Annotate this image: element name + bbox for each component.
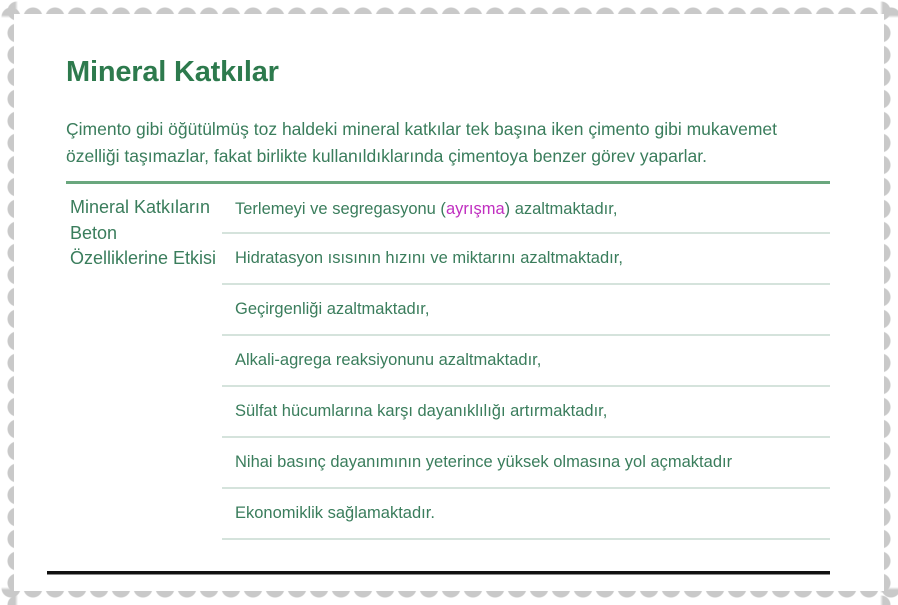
header-divider xyxy=(66,181,830,184)
intro-paragraph: Çimento gibi öğütülmüş toz haldeki miner… xyxy=(66,116,834,171)
table-row: Nihai basınç dayanımının yeterince yükse… xyxy=(222,438,830,489)
slide-content: Mineral Katkılar Çimento gibi öğütülmüş … xyxy=(0,0,898,605)
table-row: Sülfat hücumlarına karşı dayanıklılığı a… xyxy=(222,387,830,438)
table-row-text: Ekonomiklik sağlamaktadır. xyxy=(222,504,435,523)
table-row-text: Hidratasyon ısısının hızını ve miktarını… xyxy=(222,249,623,268)
table-row-header-label: Mineral Katkıların Beton Özelliklerine E… xyxy=(70,195,220,272)
slide-page: Mineral Katkılar Çimento gibi öğütülmüş … xyxy=(0,0,898,605)
table-row: Alkali-agrega reaksiyonunu azaltmaktadır… xyxy=(222,336,830,387)
table-row: Ekonomiklik sağlamaktadır. xyxy=(222,489,830,540)
table-row-text: Nihai basınç dayanımının yeterince yükse… xyxy=(222,453,732,472)
row-text-highlight: ayrışma xyxy=(446,200,505,218)
row-text-before: Terlemeyi ve segregasyonu ( xyxy=(235,200,446,218)
table-row: Geçirgenliği azaltmaktadır, xyxy=(222,285,830,336)
row-text-after: ) azaltmaktadır, xyxy=(505,200,618,218)
effects-list: Terlemeyi ve segregasyonu (ayrışma) azal… xyxy=(222,186,830,540)
table-row-text: Alkali-agrega reaksiyonunu azaltmaktadır… xyxy=(222,351,541,370)
table-row-text: Sülfat hücumlarına karşı dayanıklılığı a… xyxy=(222,402,607,421)
page-title: Mineral Katkılar xyxy=(66,56,279,89)
table-row: Terlemeyi ve segregasyonu (ayrışma) azal… xyxy=(222,186,830,234)
table-row-text: Geçirgenliği azaltmaktadır, xyxy=(222,300,429,319)
table-row-text: Terlemeyi ve segregasyonu (ayrışma) azal… xyxy=(222,200,617,219)
table-row: Hidratasyon ısısının hızını ve miktarını… xyxy=(222,234,830,285)
footer-rule xyxy=(47,571,830,575)
